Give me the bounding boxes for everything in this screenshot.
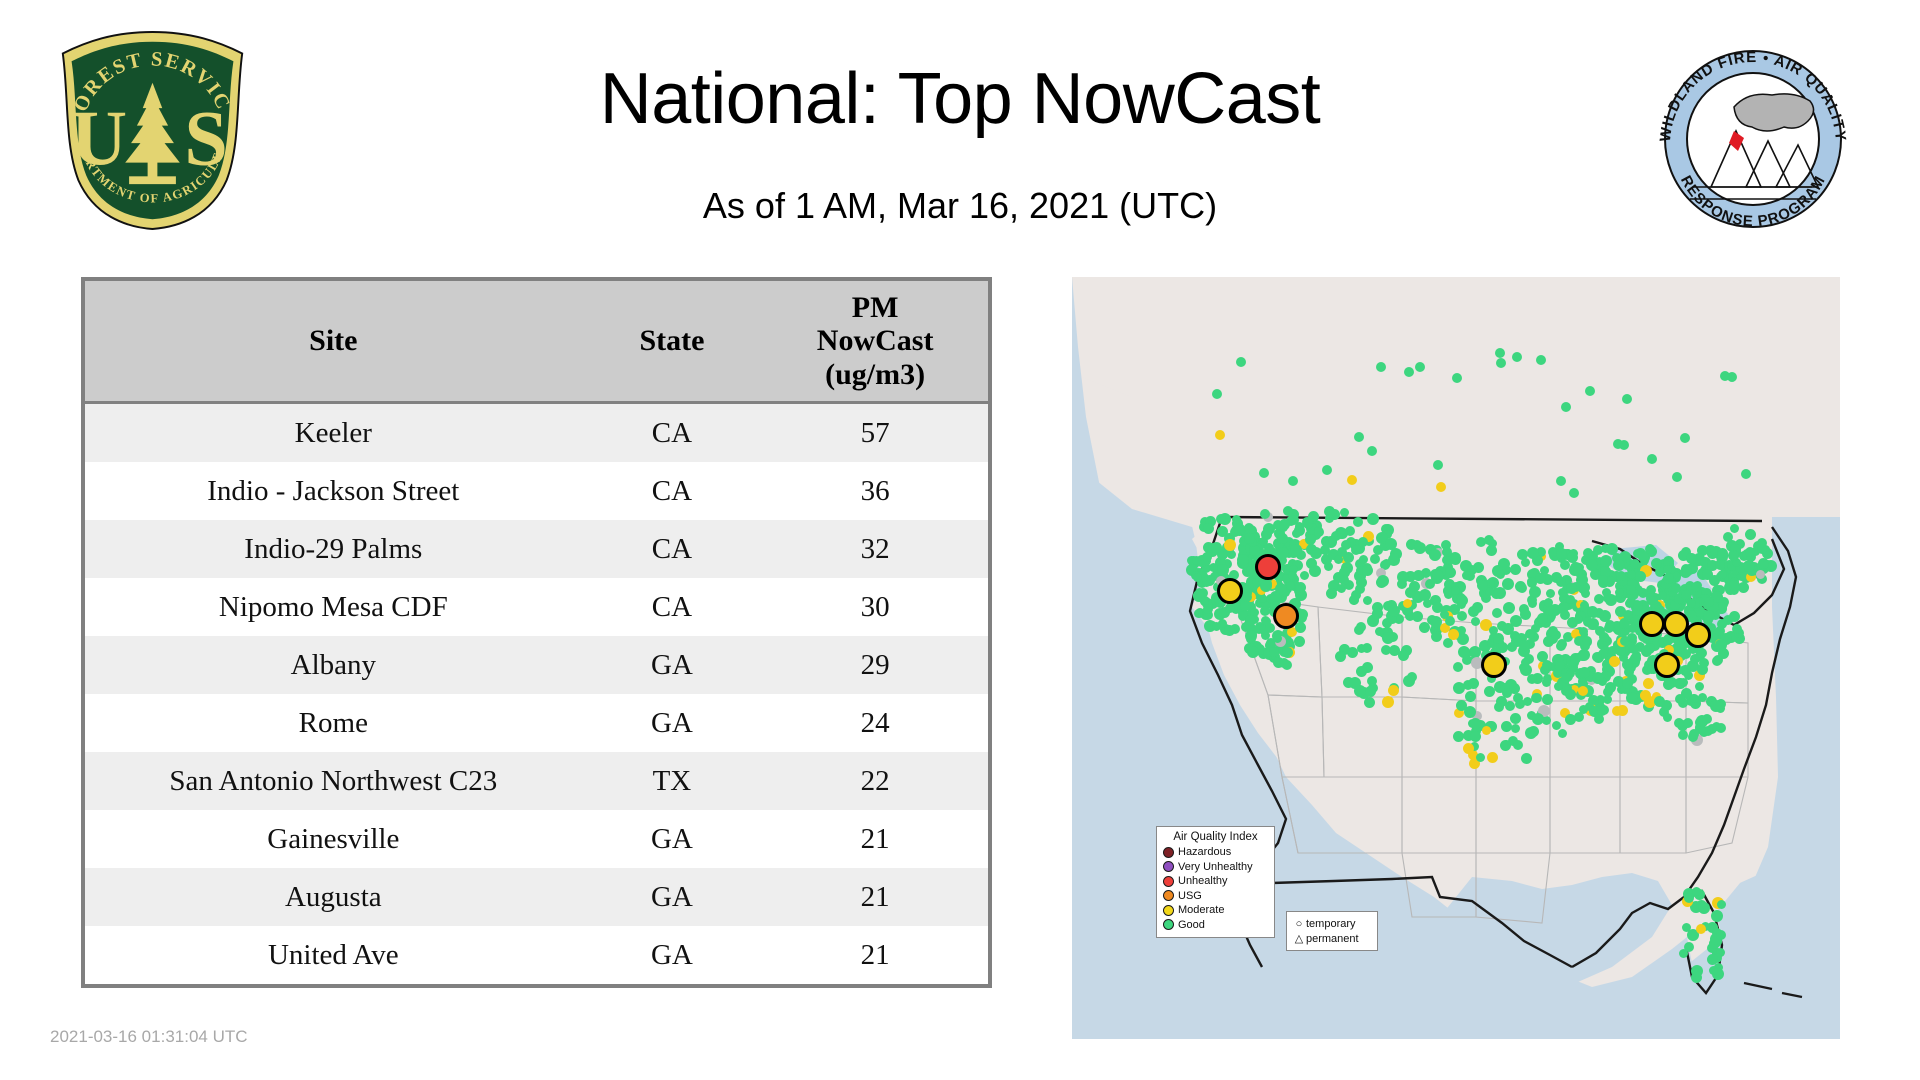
pm-nowcast-cell: 22	[762, 752, 988, 810]
highlighted-site-marker[interactable]	[1217, 578, 1243, 604]
monitor-dot	[1486, 545, 1497, 556]
monitor-dot	[1663, 713, 1672, 722]
state-cell: GA	[582, 694, 763, 752]
monitor-dot	[1470, 718, 1481, 729]
monitor-type-legend-item: △permanent	[1292, 931, 1372, 946]
monitor-dot	[1468, 678, 1479, 689]
monitor-dot	[1458, 646, 1470, 658]
monitor-dot	[1718, 570, 1727, 579]
monitor-dot	[1687, 599, 1696, 608]
column-header-pm-line3: (ug/m3)	[762, 358, 988, 392]
monitor-dot	[1683, 718, 1693, 728]
monitor-dot	[1698, 902, 1710, 914]
monitor-dot	[1212, 622, 1221, 631]
monitor-dot	[1640, 691, 1649, 700]
monitor-dot	[1626, 585, 1636, 595]
monitor-dot	[1362, 565, 1373, 576]
monitor-dot	[1290, 544, 1302, 556]
site-cell: Rome	[85, 694, 582, 752]
monitor-dot	[1495, 348, 1505, 358]
monitor-dot	[1510, 713, 1521, 724]
monitor-dot	[1389, 553, 1399, 563]
monitor-dot	[1592, 672, 1604, 684]
monitor-dot	[1663, 573, 1674, 584]
monitor-dot	[1273, 634, 1282, 643]
monitor-dot	[1471, 617, 1480, 626]
page-header: FOREST SERVICE DEPARTMENT OF AGRICULTURE…	[0, 0, 1920, 270]
column-header-pm-line1: PM	[762, 291, 988, 325]
monitor-dot	[1587, 606, 1598, 617]
monitor-dot	[1367, 446, 1377, 456]
monitor-dot	[1502, 688, 1512, 698]
highlighted-site-marker[interactable]	[1255, 554, 1281, 580]
air-quality-index-legend: Air Quality Index HazardousVery Unhealth…	[1156, 826, 1275, 938]
table-body: KeelerCA57Indio - Jackson StreetCA36Indi…	[85, 403, 988, 985]
legend-swatch-icon	[1163, 847, 1174, 858]
legend-item-label: Moderate	[1178, 904, 1224, 916]
monitor-dot	[1382, 632, 1394, 644]
monitor-dot	[1578, 686, 1588, 696]
monitor-dot	[1493, 633, 1504, 644]
monitor-type-legend-item: ○temporary	[1292, 916, 1372, 931]
monitor-dot	[1695, 682, 1704, 691]
monitor-dot	[1672, 472, 1682, 482]
monitor-dot	[1419, 589, 1431, 601]
monitor-dot	[1691, 582, 1701, 592]
legend-item-label: Unhealthy	[1178, 875, 1228, 887]
monitor-dot	[1566, 595, 1575, 604]
monitor-dot	[1557, 639, 1567, 649]
monitor-dot	[1615, 588, 1624, 597]
monitor-dot	[1525, 727, 1537, 739]
monitor-dot	[1367, 513, 1379, 525]
monitor-dot	[1448, 629, 1459, 640]
monitor-dot	[1617, 705, 1628, 716]
monitor-dot	[1409, 581, 1420, 592]
monitor-dot	[1507, 642, 1517, 652]
legend-rows: HazardousVery UnhealthyUnhealthyUSGModer…	[1163, 845, 1268, 932]
table-row: United AveGA21	[85, 926, 988, 984]
table-row: AugustaGA21	[85, 868, 988, 926]
monitor-dot	[1356, 577, 1367, 588]
monitor-dot	[1277, 533, 1288, 544]
monitor-dot	[1513, 740, 1523, 750]
monitor-dot	[1398, 650, 1409, 661]
monitor-dot	[1295, 622, 1306, 633]
monitor-dot	[1710, 700, 1722, 712]
monitor-dot	[1536, 355, 1546, 365]
monitor-dot	[1613, 559, 1625, 571]
monitor-dot	[1579, 667, 1590, 678]
pm-nowcast-cell: 21	[762, 868, 988, 926]
monitor-dot	[1691, 965, 1703, 977]
pm-nowcast-cell: 21	[762, 926, 988, 984]
legend-item-label: Hazardous	[1178, 846, 1231, 858]
table-row: San Antonio Northwest C23TX22	[85, 752, 988, 810]
monitor-dot	[1576, 574, 1588, 586]
table-header-row: Site State PM NowCast (ug/m3)	[85, 281, 988, 403]
pm-nowcast-cell: 36	[762, 462, 988, 520]
monitor-dot	[1215, 430, 1225, 440]
monitor-dot	[1462, 571, 1471, 580]
monitor-dot	[1531, 693, 1541, 703]
monitor-dot	[1565, 714, 1576, 725]
legend-item-label: Very Unhealthy	[1178, 861, 1253, 873]
monitor-dot	[1757, 544, 1767, 554]
monitor-dot	[1369, 614, 1379, 624]
monitor-dot	[1712, 656, 1722, 666]
monitor-dot	[1376, 577, 1387, 588]
monitor-dot	[1453, 682, 1465, 694]
monitor-dot	[1558, 729, 1567, 738]
monitor-dot	[1548, 626, 1558, 636]
monitor-dot	[1303, 519, 1313, 529]
monitor-dot	[1723, 532, 1733, 542]
monitor-dot	[1707, 954, 1718, 965]
legend-swatch-icon	[1163, 890, 1174, 901]
monitor-dot	[1503, 602, 1515, 614]
monitor-dot	[1682, 923, 1691, 932]
monitor-dot	[1385, 538, 1397, 550]
monitor-dot	[1689, 729, 1699, 739]
site-cell: Indio - Jackson Street	[85, 462, 582, 520]
monitor-dot	[1567, 552, 1578, 563]
monitor-dot	[1277, 547, 1289, 559]
monitor-dot	[1193, 573, 1202, 582]
monitor-dot	[1305, 534, 1316, 545]
monitor-dot	[1729, 580, 1740, 591]
monitor-dot	[1532, 713, 1544, 725]
monitor-dot	[1498, 558, 1510, 570]
monitor-dot	[1381, 645, 1391, 655]
monitor-dot	[1203, 604, 1213, 614]
monitor-dot	[1376, 362, 1386, 372]
legend-item-label: Good	[1178, 919, 1205, 931]
monitor-dot	[1686, 553, 1697, 564]
monitor-dot	[1193, 590, 1205, 602]
monitor-dot	[1325, 514, 1334, 523]
monitor-dot	[1468, 606, 1479, 617]
monitor-dot	[1544, 598, 1553, 607]
monitor-dot	[1245, 615, 1256, 626]
monitor-dot	[1279, 519, 1290, 530]
monitor-dot	[1644, 643, 1655, 654]
legend-item: Hazardous	[1163, 845, 1268, 860]
monitor-dot	[1599, 632, 1609, 642]
site-cell: Augusta	[85, 868, 582, 926]
monitor-dot	[1635, 571, 1646, 582]
site-cell: Albany	[85, 636, 582, 694]
monitor-dot	[1470, 731, 1481, 742]
monitor-dot	[1237, 554, 1249, 566]
monitor-dot	[1512, 352, 1522, 362]
monitor-dot	[1453, 662, 1463, 672]
monitor-dot	[1729, 551, 1739, 561]
monitor-dot	[1445, 616, 1455, 626]
monitor-dot	[1260, 606, 1270, 616]
monitor-dot	[1358, 537, 1368, 547]
monitor-dot	[1334, 555, 1343, 564]
column-header-pm-line2: NowCast	[762, 324, 988, 358]
table-row: GainesvilleGA21	[85, 810, 988, 868]
monitor-dot	[1626, 692, 1638, 704]
monitor-dot	[1326, 588, 1337, 599]
monitor-dot	[1324, 562, 1333, 571]
highlighted-site-marker[interactable]	[1685, 622, 1711, 648]
monitor-dot	[1482, 726, 1491, 735]
monitor-dot	[1349, 595, 1359, 605]
monitor-dot	[1517, 583, 1527, 593]
state-cell: CA	[582, 403, 763, 463]
highlighted-site-marker[interactable]	[1273, 603, 1299, 629]
monitor-dot	[1245, 630, 1257, 642]
monitor-dot	[1436, 482, 1446, 492]
monitor-dot	[1720, 371, 1730, 381]
monitor-dot	[1354, 685, 1366, 697]
monitor-dot	[1556, 476, 1566, 486]
monitor-dot	[1560, 610, 1570, 620]
monitor-dot	[1663, 565, 1672, 574]
monitor-dot	[1529, 586, 1541, 598]
monitor-dot	[1535, 573, 1546, 584]
monitor-dot	[1347, 475, 1357, 485]
monitor-dot	[1337, 528, 1348, 539]
monitor-dot	[1300, 571, 1309, 580]
monitor-dot	[1680, 433, 1690, 443]
monitor-dot	[1531, 624, 1540, 633]
monitor-dot	[1690, 694, 1699, 703]
legend-item: Unhealthy	[1163, 874, 1268, 889]
highlighted-site-marker[interactable]	[1654, 652, 1680, 678]
monitor-dot	[1457, 595, 1468, 606]
monitor-dot	[1404, 367, 1414, 377]
highlighted-site-marker[interactable]	[1639, 611, 1665, 637]
monitor-dot	[1647, 454, 1657, 464]
monitor-dot	[1492, 608, 1502, 618]
monitor-dot	[1537, 613, 1548, 624]
site-cell: United Ave	[85, 926, 582, 984]
monitor-dot	[1294, 636, 1305, 647]
monitor-dot	[1476, 753, 1485, 762]
monitor-dot	[1295, 582, 1306, 593]
monitor-dot	[1260, 509, 1270, 519]
site-cell: San Antonio Northwest C23	[85, 752, 582, 810]
monitor-dot	[1432, 602, 1443, 613]
monitor-dot	[1704, 597, 1714, 607]
monitor-dot	[1314, 527, 1324, 537]
monitor-dot	[1501, 721, 1512, 732]
monitor-dot	[1269, 647, 1279, 657]
monitor-dot	[1487, 752, 1498, 763]
table-row: RomeGA24	[85, 694, 988, 752]
monitor-dot	[1570, 653, 1581, 664]
monitor-dot	[1203, 523, 1214, 534]
monitor-dot	[1510, 631, 1520, 641]
monitor-dot	[1216, 514, 1226, 524]
monitor-dot	[1443, 587, 1452, 596]
monitor-dot	[1354, 432, 1364, 442]
monitor-dot	[1521, 753, 1532, 764]
monitor-dot	[1388, 605, 1400, 617]
monitor-dot	[1310, 547, 1322, 559]
monitor-dot	[1520, 607, 1529, 616]
monitor-dot	[1279, 658, 1289, 668]
column-header-pm-nowcast: PM NowCast (ug/m3)	[762, 281, 988, 403]
monitor-dot	[1496, 570, 1505, 579]
highlighted-site-marker[interactable]	[1481, 652, 1507, 678]
monitor-dot	[1702, 714, 1712, 724]
monitor-type-label: temporary	[1306, 918, 1356, 930]
monitor-dot	[1365, 686, 1376, 697]
monitor-dot	[1651, 558, 1662, 569]
monitor-dot	[1711, 910, 1723, 922]
monitor-dot	[1729, 611, 1740, 622]
monitor-dot	[1211, 542, 1222, 553]
table-row: Indio - Jackson StreetCA36	[85, 462, 988, 520]
monitor-dot	[1433, 460, 1443, 470]
monitor-dot	[1309, 565, 1321, 577]
monitor-dot	[1484, 686, 1495, 697]
monitor-dot	[1658, 591, 1667, 600]
monitor-type-label: permanent	[1306, 933, 1359, 945]
monitor-dot	[1429, 549, 1441, 561]
monitor-dot	[1356, 622, 1366, 632]
monitor-dot	[1282, 647, 1293, 658]
footer-timestamp: 2021-03-16 01:31:04 UTC	[50, 1027, 248, 1047]
legend-item: Moderate	[1163, 903, 1268, 918]
monitor-dot	[1565, 689, 1576, 700]
monitor-dot	[1484, 535, 1494, 545]
monitor-dot	[1367, 676, 1377, 686]
monitor-dot	[1527, 547, 1539, 559]
monitor-dot	[1432, 570, 1444, 582]
legend-item-label: USG	[1178, 890, 1202, 902]
monitor-dot	[1633, 601, 1643, 611]
pm-nowcast-cell: 30	[762, 578, 988, 636]
monitor-dot	[1341, 540, 1351, 550]
monitor-dot	[1521, 558, 1530, 567]
monitor-dot	[1622, 678, 1633, 689]
monitor-dot	[1511, 724, 1520, 733]
monitor-dot	[1580, 641, 1590, 651]
monitor-type-legend: ○temporary△permanent	[1286, 911, 1378, 951]
table-row: KeelerCA57	[85, 403, 988, 463]
monitor-dot	[1715, 639, 1727, 651]
monitor-dot	[1574, 615, 1583, 624]
monitor-dot	[1671, 583, 1681, 593]
monitor-dot	[1477, 580, 1488, 591]
monitor-dot	[1675, 694, 1685, 704]
monitor-dot	[1194, 609, 1203, 618]
monitor-dot	[1465, 691, 1476, 702]
monitor-dot	[1397, 571, 1409, 583]
monitor-dot	[1453, 731, 1464, 742]
monitor-dot	[1645, 544, 1655, 554]
pm-nowcast-cell: 57	[762, 403, 988, 463]
monitor-dot	[1745, 529, 1756, 540]
table-row: Indio-29 PalmsCA32	[85, 520, 988, 578]
monitor-dot	[1275, 583, 1287, 595]
monitor-dot	[1684, 893, 1694, 903]
state-cell: GA	[582, 636, 763, 694]
legend-type-rows: ○temporary△permanent	[1292, 916, 1372, 946]
monitor-dot	[1717, 550, 1728, 561]
monitor-dot	[1442, 547, 1452, 557]
legend-swatch-icon	[1163, 905, 1174, 916]
monitor-dot	[1597, 706, 1607, 716]
monitor-dot	[1741, 469, 1751, 479]
monitor-dot	[1598, 575, 1608, 585]
monitor-dot	[1527, 674, 1537, 684]
monitor-dot	[1259, 468, 1269, 478]
monitor-dot	[1234, 525, 1245, 536]
monitor-dot	[1620, 636, 1630, 646]
state-cell: CA	[582, 520, 763, 578]
monitor-dot	[1709, 966, 1718, 975]
monitor-dot	[1605, 594, 1617, 606]
monitor-dot	[1363, 596, 1372, 605]
site-cell: Gainesville	[85, 810, 582, 868]
monitor-dot	[1431, 631, 1442, 642]
monitor-dot	[1703, 610, 1715, 622]
monitor-dot	[1654, 696, 1665, 707]
state-cell: GA	[582, 810, 763, 868]
monitor-dot	[1593, 545, 1603, 555]
monitor-dot	[1579, 705, 1588, 714]
monitor-dot	[1415, 362, 1425, 372]
monitor-dot	[1561, 402, 1571, 412]
monitor-dot	[1579, 627, 1588, 636]
monitor-dot	[1613, 439, 1623, 449]
monitor-dot	[1542, 660, 1552, 670]
monitor-dot	[1356, 666, 1367, 677]
national-aqi-map[interactable]: Air Quality Index HazardousVery Unhealth…	[1072, 277, 1840, 1039]
monitor-dot	[1232, 515, 1241, 524]
circle-icon: ○	[1292, 918, 1306, 930]
monitor-dot	[1756, 570, 1765, 579]
monitor-dot	[1212, 389, 1222, 399]
monitor-dot	[1244, 533, 1255, 544]
monitor-dot	[1288, 571, 1297, 580]
monitor-dot	[1288, 476, 1298, 486]
monitor-dot	[1502, 578, 1514, 590]
state-cell: TX	[582, 752, 763, 810]
monitor-dot	[1292, 529, 1301, 538]
monitor-dot	[1732, 624, 1742, 634]
state-cell: CA	[582, 462, 763, 520]
monitor-dot	[1616, 571, 1626, 581]
legend-title: Air Quality Index	[1163, 831, 1268, 843]
monitor-dot	[1587, 618, 1599, 630]
state-cell: GA	[582, 926, 763, 984]
monitor-dot	[1696, 924, 1706, 934]
monitor-dot	[1697, 648, 1707, 658]
monitor-dot	[1716, 930, 1726, 940]
legend-swatch-icon	[1163, 861, 1174, 872]
monitor-dot	[1225, 603, 1235, 613]
top-nowcast-table: Site State PM NowCast (ug/m3) KeelerCA57…	[81, 277, 992, 988]
monitor-dot	[1684, 942, 1694, 952]
monitor-dot	[1566, 583, 1577, 594]
monitor-dot	[1730, 524, 1739, 533]
monitor-dot	[1675, 678, 1686, 689]
monitor-dot	[1353, 517, 1363, 527]
column-header-state: State	[582, 281, 763, 403]
monitor-dot	[1452, 373, 1462, 383]
monitor-dot	[1445, 567, 1456, 578]
table-row: AlbanyGA29	[85, 636, 988, 694]
monitor-dot	[1543, 636, 1554, 647]
